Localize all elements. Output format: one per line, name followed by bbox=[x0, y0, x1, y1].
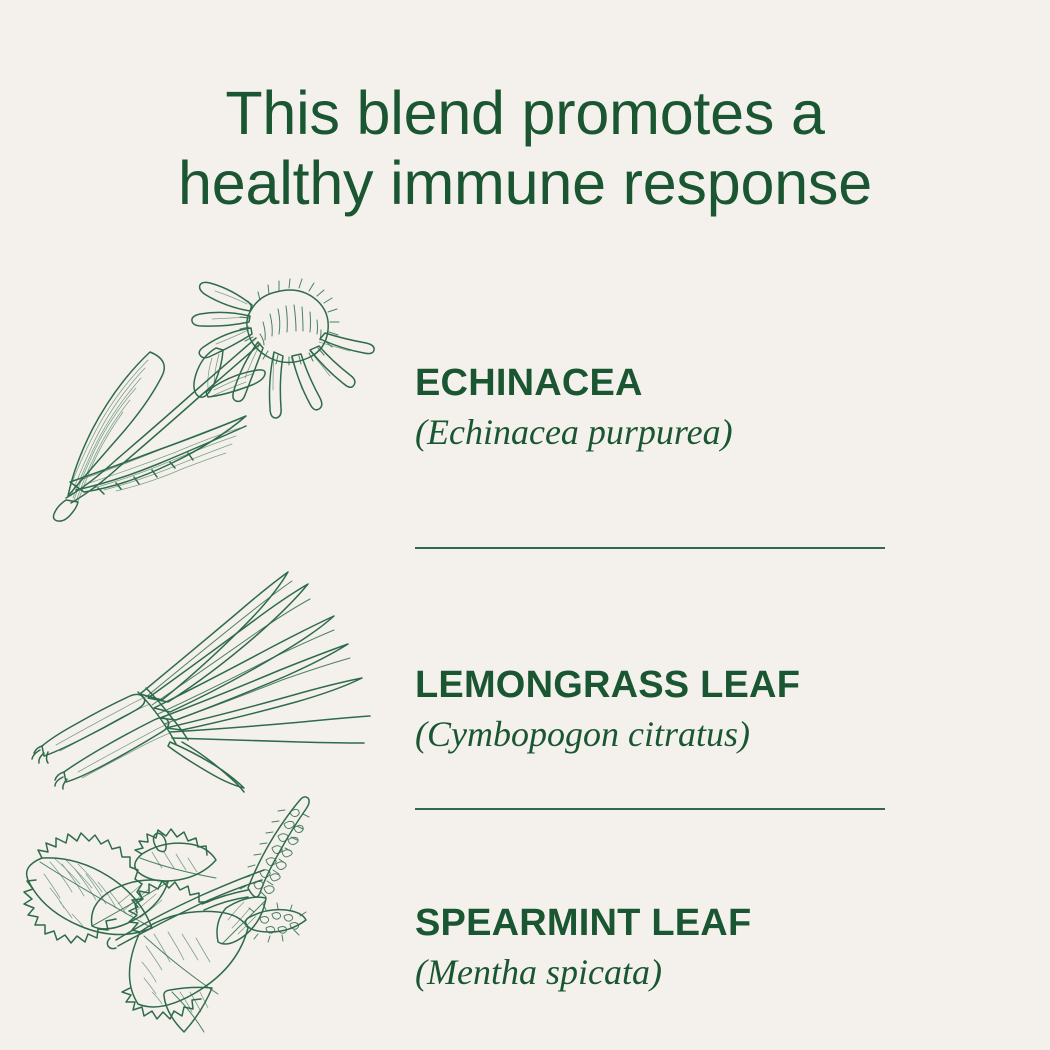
ingredient-label-lemongrass: LEMONGRASS LEAF (Cymbopogon citratus) bbox=[415, 664, 1015, 758]
ingredient-latin-name: (Mentha spicata) bbox=[415, 948, 1015, 996]
spearmint-leaf-illustration bbox=[20, 792, 390, 1050]
ingredient-label-echinacea: ECHINACEA (Echinacea purpurea) bbox=[415, 362, 1015, 456]
page-title: This blend promotes a healthy immune res… bbox=[0, 78, 1050, 218]
ingredient-list: ECHINACEA (Echinacea purpurea) bbox=[0, 250, 1050, 1050]
ingredient-name: ECHINACEA bbox=[415, 362, 1015, 404]
ingredient-name: SPEARMINT LEAF bbox=[415, 902, 1015, 944]
page-title-line-2: healthy immune response bbox=[0, 148, 1050, 218]
section-divider bbox=[415, 547, 885, 549]
lemongrass-stalk-illustration bbox=[20, 532, 390, 792]
ingredient-row-lemongrass: LEMONGRASS LEAF (Cymbopogon citratus) bbox=[0, 532, 1050, 792]
section-divider bbox=[415, 808, 885, 810]
ingredient-latin-name: (Echinacea purpurea) bbox=[415, 408, 1015, 456]
ingredient-latin-name: (Cymbopogon citratus) bbox=[415, 710, 1015, 758]
ingredient-row-echinacea: ECHINACEA (Echinacea purpurea) bbox=[0, 250, 1050, 532]
page-title-line-1: This blend promotes a bbox=[0, 78, 1050, 148]
ingredient-name: LEMONGRASS LEAF bbox=[415, 664, 1015, 706]
ingredient-row-spearmint: SPEARMINT LEAF (Mentha spicata) bbox=[0, 792, 1050, 1050]
ingredient-label-spearmint: SPEARMINT LEAF (Mentha spicata) bbox=[415, 902, 1015, 996]
echinacea-flower-illustration bbox=[20, 250, 390, 532]
ingredient-panel: This blend promotes a healthy immune res… bbox=[0, 0, 1050, 1050]
